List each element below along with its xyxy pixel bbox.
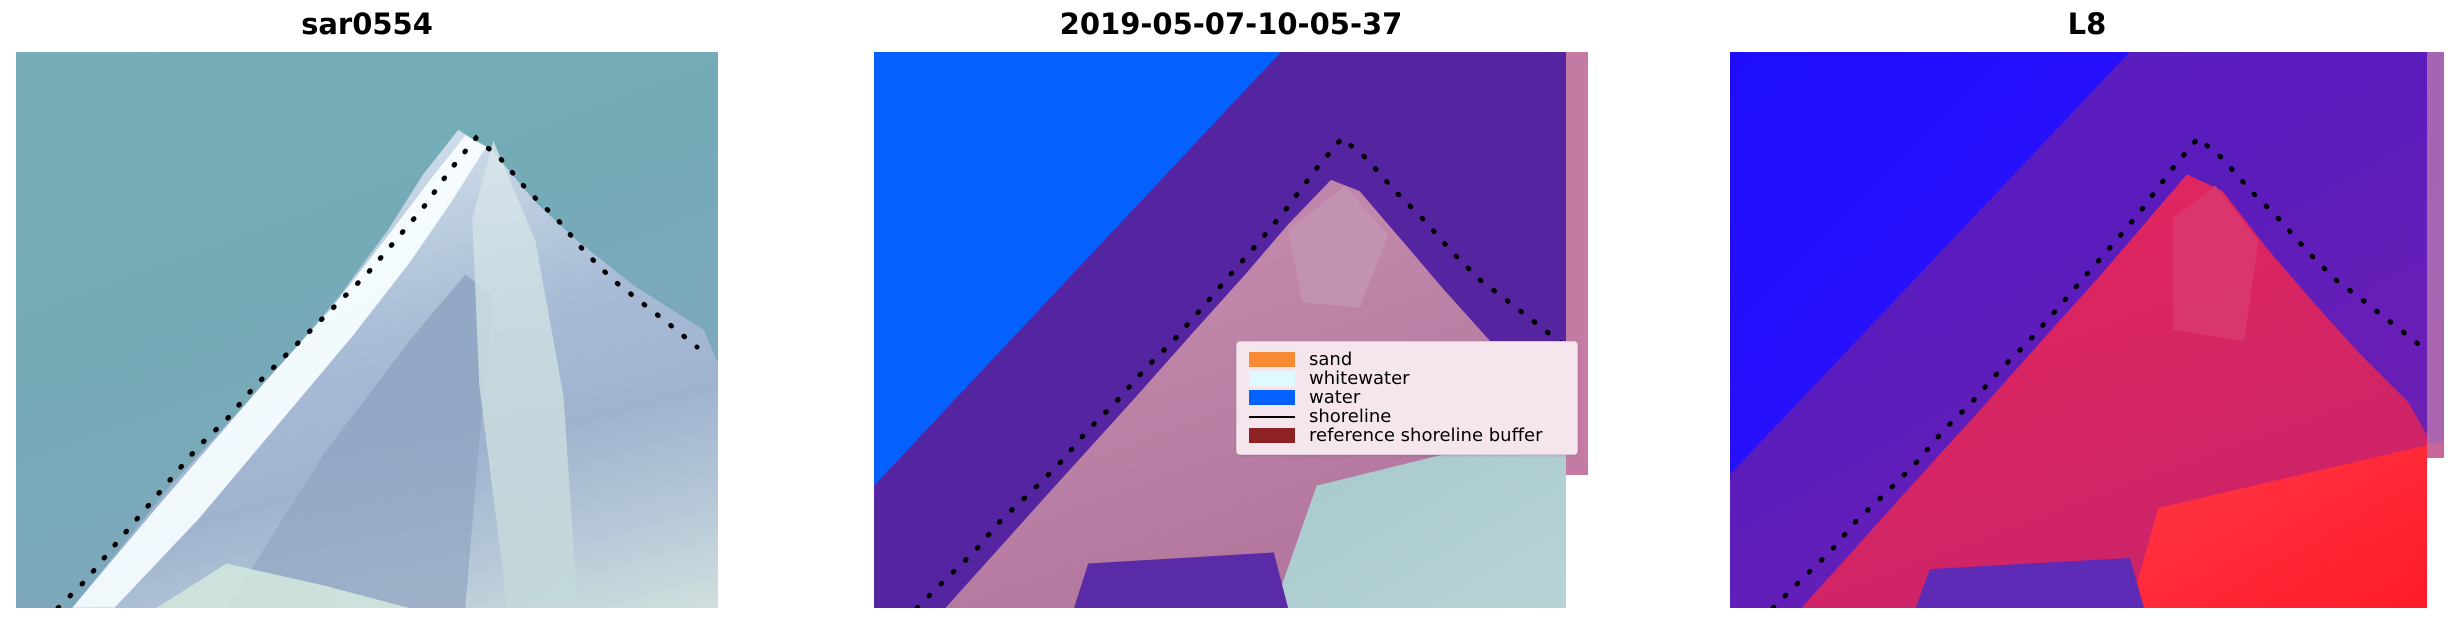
legend: sand whitewater water shoreline referenc… (1236, 341, 1578, 455)
legend-label: shoreline (1309, 407, 1391, 426)
panel-timestamp-image (874, 52, 1588, 608)
shoreline-line-icon (1249, 409, 1295, 424)
right-edge-band-lower (1566, 475, 1588, 608)
panel-l8 (1730, 52, 2444, 608)
whitewater-swatch-icon (1249, 371, 1295, 386)
reference-buffer-swatch-icon (1249, 428, 1295, 443)
panel-sar0554 (16, 52, 718, 608)
legend-item-shoreline: shoreline (1249, 407, 1565, 426)
legend-label: water (1309, 388, 1360, 407)
figure-canvas: sar0554 2019-05-07-10-05-37 (0, 0, 2460, 621)
legend-label: whitewater (1309, 369, 1410, 388)
legend-label: reference shoreline buffer (1309, 426, 1542, 445)
legend-item-sand: sand (1249, 350, 1565, 369)
right-edge-band (2427, 52, 2444, 458)
panel-l8-image (1730, 52, 2444, 608)
sand-swatch-icon (1249, 352, 1295, 367)
panel-sar0554-image (16, 52, 718, 608)
legend-item-whitewater: whitewater (1249, 369, 1565, 388)
water-swatch-icon (1249, 390, 1295, 405)
panel-timestamp (874, 52, 1588, 608)
panel-sar0554-title: sar0554 (16, 6, 718, 42)
legend-item-water: water (1249, 388, 1565, 407)
panel-l8-title: L8 (1730, 6, 2444, 42)
legend-label: sand (1309, 350, 1352, 369)
right-edge-band-lower (2427, 458, 2444, 608)
panel-timestamp-title: 2019-05-07-10-05-37 (874, 6, 1588, 42)
legend-item-reference-shoreline-buffer: reference shoreline buffer (1249, 426, 1565, 445)
